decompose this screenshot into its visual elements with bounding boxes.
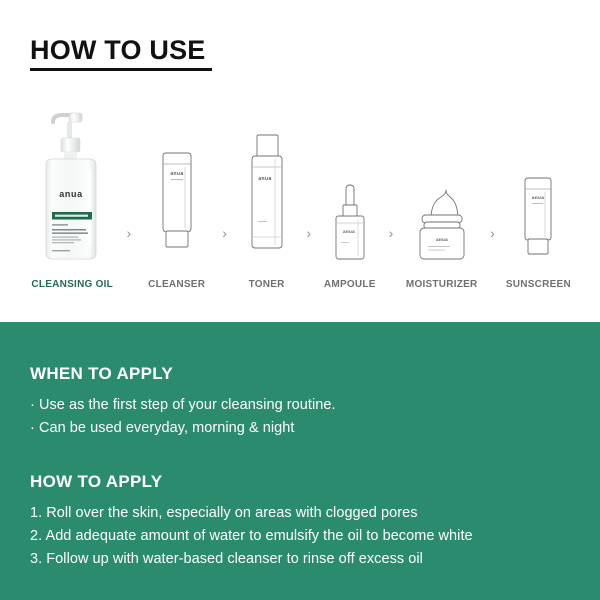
routine-step-label: SUNSCREEN <box>506 279 571 290</box>
how-to-apply-line: 2. Add adequate amount of water to emuls… <box>30 525 570 548</box>
how-to-apply-line: 3. Follow up with water-based cleanser t… <box>30 548 570 571</box>
sunscreen-tube-icon: anua <box>515 111 561 266</box>
page-title: HOW TO USE <box>30 36 212 64</box>
sun-tube-outline-svg: anua <box>515 111 561 266</box>
svg-text:anua: anua <box>258 176 271 182</box>
page-header: HOW TO USE <box>30 36 212 71</box>
svg-text:anua: anua <box>60 189 84 199</box>
chevron-right-icon: › <box>486 226 499 240</box>
when-to-apply-line: · Can be used everyday, morning & night <box>30 417 570 440</box>
routine-step-label: TONER <box>249 279 285 290</box>
routine-step-cleanser: anua CLEANSER <box>135 111 218 290</box>
toner-bottle-icon: anua <box>244 111 290 266</box>
tube-outline-svg: anua <box>152 111 202 266</box>
cream-jar-outline-svg: anua <box>414 111 470 266</box>
pump-bottle-photo-svg: anua <box>39 111 105 266</box>
chevron-right-icon: › <box>122 226 135 240</box>
chevron-right-icon: › <box>302 226 315 240</box>
routine-steps: anua CLEANSING OIL › <box>0 100 600 290</box>
chevron-right-icon: › <box>385 226 398 240</box>
how-to-apply-heading: HOW TO APPLY <box>30 472 570 492</box>
routine-step-label: MOISTURIZER <box>406 279 478 290</box>
svg-text:anua: anua <box>436 237 448 242</box>
when-to-apply-heading: WHEN TO APPLY <box>30 364 570 384</box>
routine-step-cleansing-oil: anua CLEANSING OIL <box>22 111 122 290</box>
routine-step-moisturizer: anua MOISTURIZER <box>397 111 486 290</box>
svg-text:anua: anua <box>170 171 183 177</box>
routine-step-label: CLEANSING OIL <box>31 279 113 290</box>
how-to-use-page: HOW TO USE <box>0 0 600 600</box>
routine-step-label: AMPOULE <box>324 279 376 290</box>
cleansing-oil-bottle-icon: anua <box>39 111 105 266</box>
tall-bottle-outline-svg: anua <box>244 111 290 266</box>
instructions-panel: WHEN TO APPLY · Use as the first step of… <box>0 322 600 600</box>
routine-step-ampoule: anua AMPOULE <box>315 111 385 290</box>
moisturizer-jar-icon: anua <box>414 111 470 266</box>
when-to-apply-line: · Use as the first step of your cleansin… <box>30 394 570 417</box>
chevron-right-icon: › <box>218 226 231 240</box>
title-underline <box>30 68 212 71</box>
routine-step-label: CLEANSER <box>148 279 205 290</box>
dropper-outline-svg: anua <box>330 111 370 266</box>
svg-text:anua: anua <box>343 229 355 234</box>
how-to-apply-line: 1. Roll over the skin, especially on are… <box>30 502 570 525</box>
ampoule-dropper-icon: anua <box>330 111 370 266</box>
svg-text:anua: anua <box>532 196 545 201</box>
routine-step-toner: anua TONER <box>231 111 302 290</box>
routine-step-sunscreen: anua SUNSCREEN <box>499 111 578 290</box>
cleanser-tube-icon: anua <box>152 111 202 266</box>
